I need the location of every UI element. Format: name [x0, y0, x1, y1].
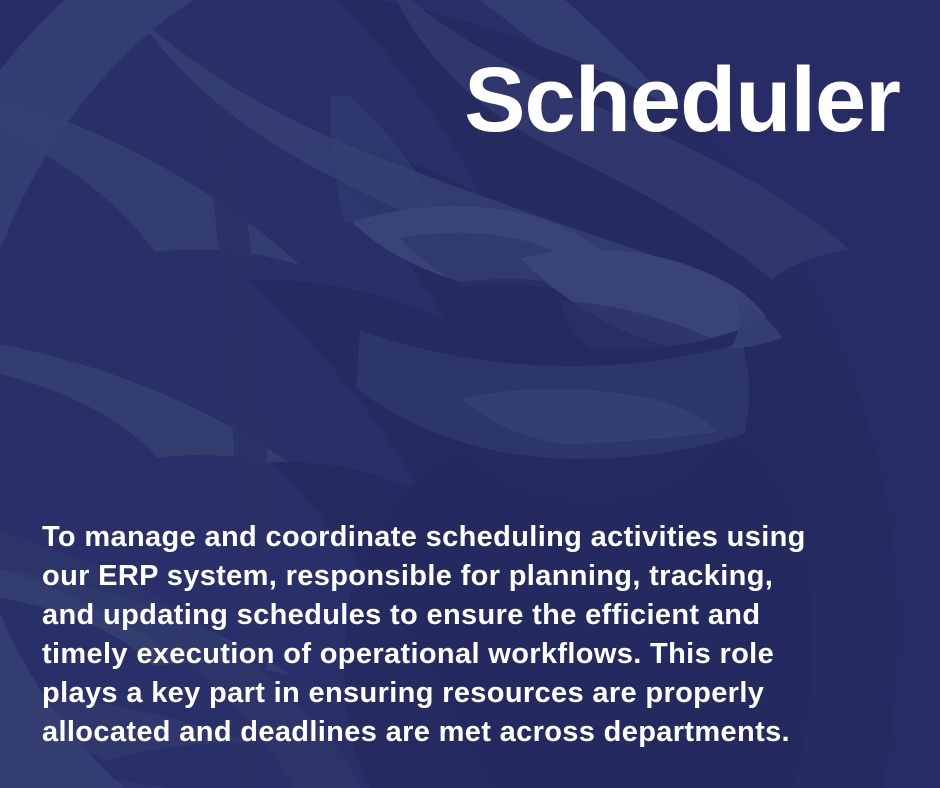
- role-description-card: Scheduler To manage and coordinate sched…: [0, 0, 940, 788]
- card-content: Scheduler To manage and coordinate sched…: [0, 0, 940, 788]
- page-title: Scheduler: [0, 52, 900, 149]
- role-description-text: To manage and coordinate scheduling acti…: [42, 518, 832, 752]
